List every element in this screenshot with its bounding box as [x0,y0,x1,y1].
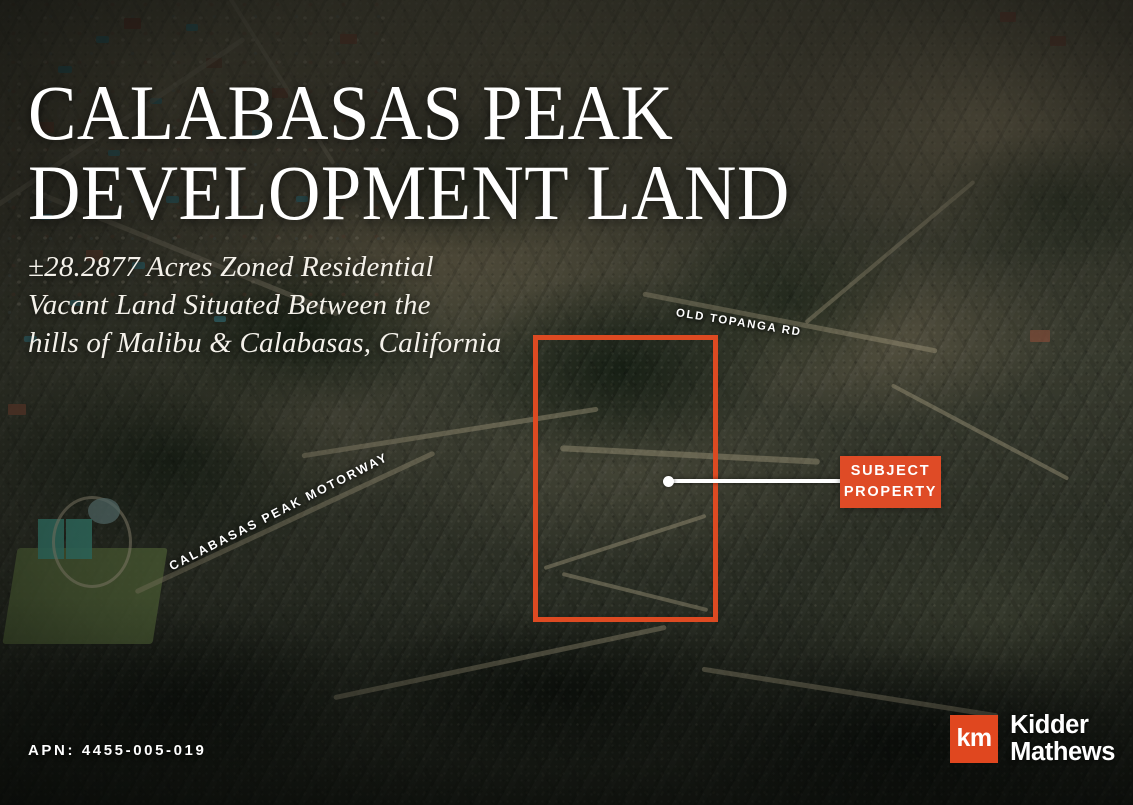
callout-line-2: PROPERTY [844,482,937,503]
kidder-mathews-logo: km Kidder Mathews [950,712,1115,766]
kidder-mathews-wordmark: Kidder Mathews [1010,712,1115,766]
page-title: CALABASAS PEAK DEVELOPMENT LAND [28,73,809,233]
apn-label: APN: 4455-005-019 [28,742,206,759]
page-subtitle: ±28.2877 Acres Zoned Residential Vacant … [28,248,648,362]
property-flyer: SUBJECT PROPERTY OLD TOPANGA RD CALABASA… [0,0,1133,805]
subject-property-callout: SUBJECT PROPERTY [840,456,941,508]
callout-anchor-dot [663,476,674,487]
callout-leader-line [672,479,844,483]
km-logo-mark: km [950,715,998,763]
callout-line-1: SUBJECT [851,461,931,482]
